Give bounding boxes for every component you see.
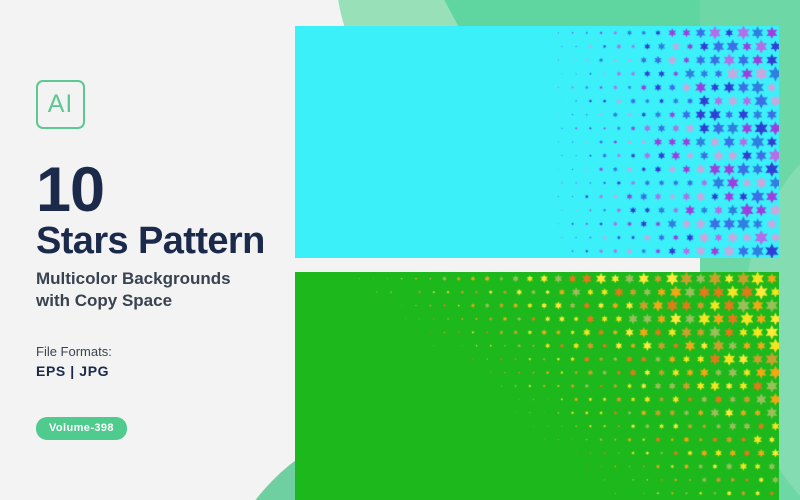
ai-badge-label: AI	[48, 92, 74, 117]
page-subtitle-line-2: with Copy Space	[36, 290, 286, 312]
page-subtitle: Multicolor Backgrounds with Copy Space	[36, 268, 286, 312]
preview-image-green[interactable]	[295, 272, 779, 500]
page-title: Stars Pattern	[36, 222, 286, 262]
file-formats-value: EPS | JPG	[36, 363, 286, 379]
info-column: AI 10 Stars Pattern Multicolor Backgroun…	[36, 80, 286, 440]
cyan-stars-canvas	[295, 26, 779, 258]
item-count: 10	[36, 162, 286, 220]
volume-badge: Volume-398	[36, 417, 127, 440]
ai-format-badge: AI	[36, 80, 85, 129]
file-formats-label: File Formats:	[36, 344, 286, 359]
preview-image-cyan[interactable]	[295, 26, 779, 258]
poster-canvas: AI 10 Stars Pattern Multicolor Backgroun…	[0, 0, 800, 500]
green-stars-canvas	[295, 272, 779, 500]
page-subtitle-line-1: Multicolor Backgrounds	[36, 268, 286, 290]
